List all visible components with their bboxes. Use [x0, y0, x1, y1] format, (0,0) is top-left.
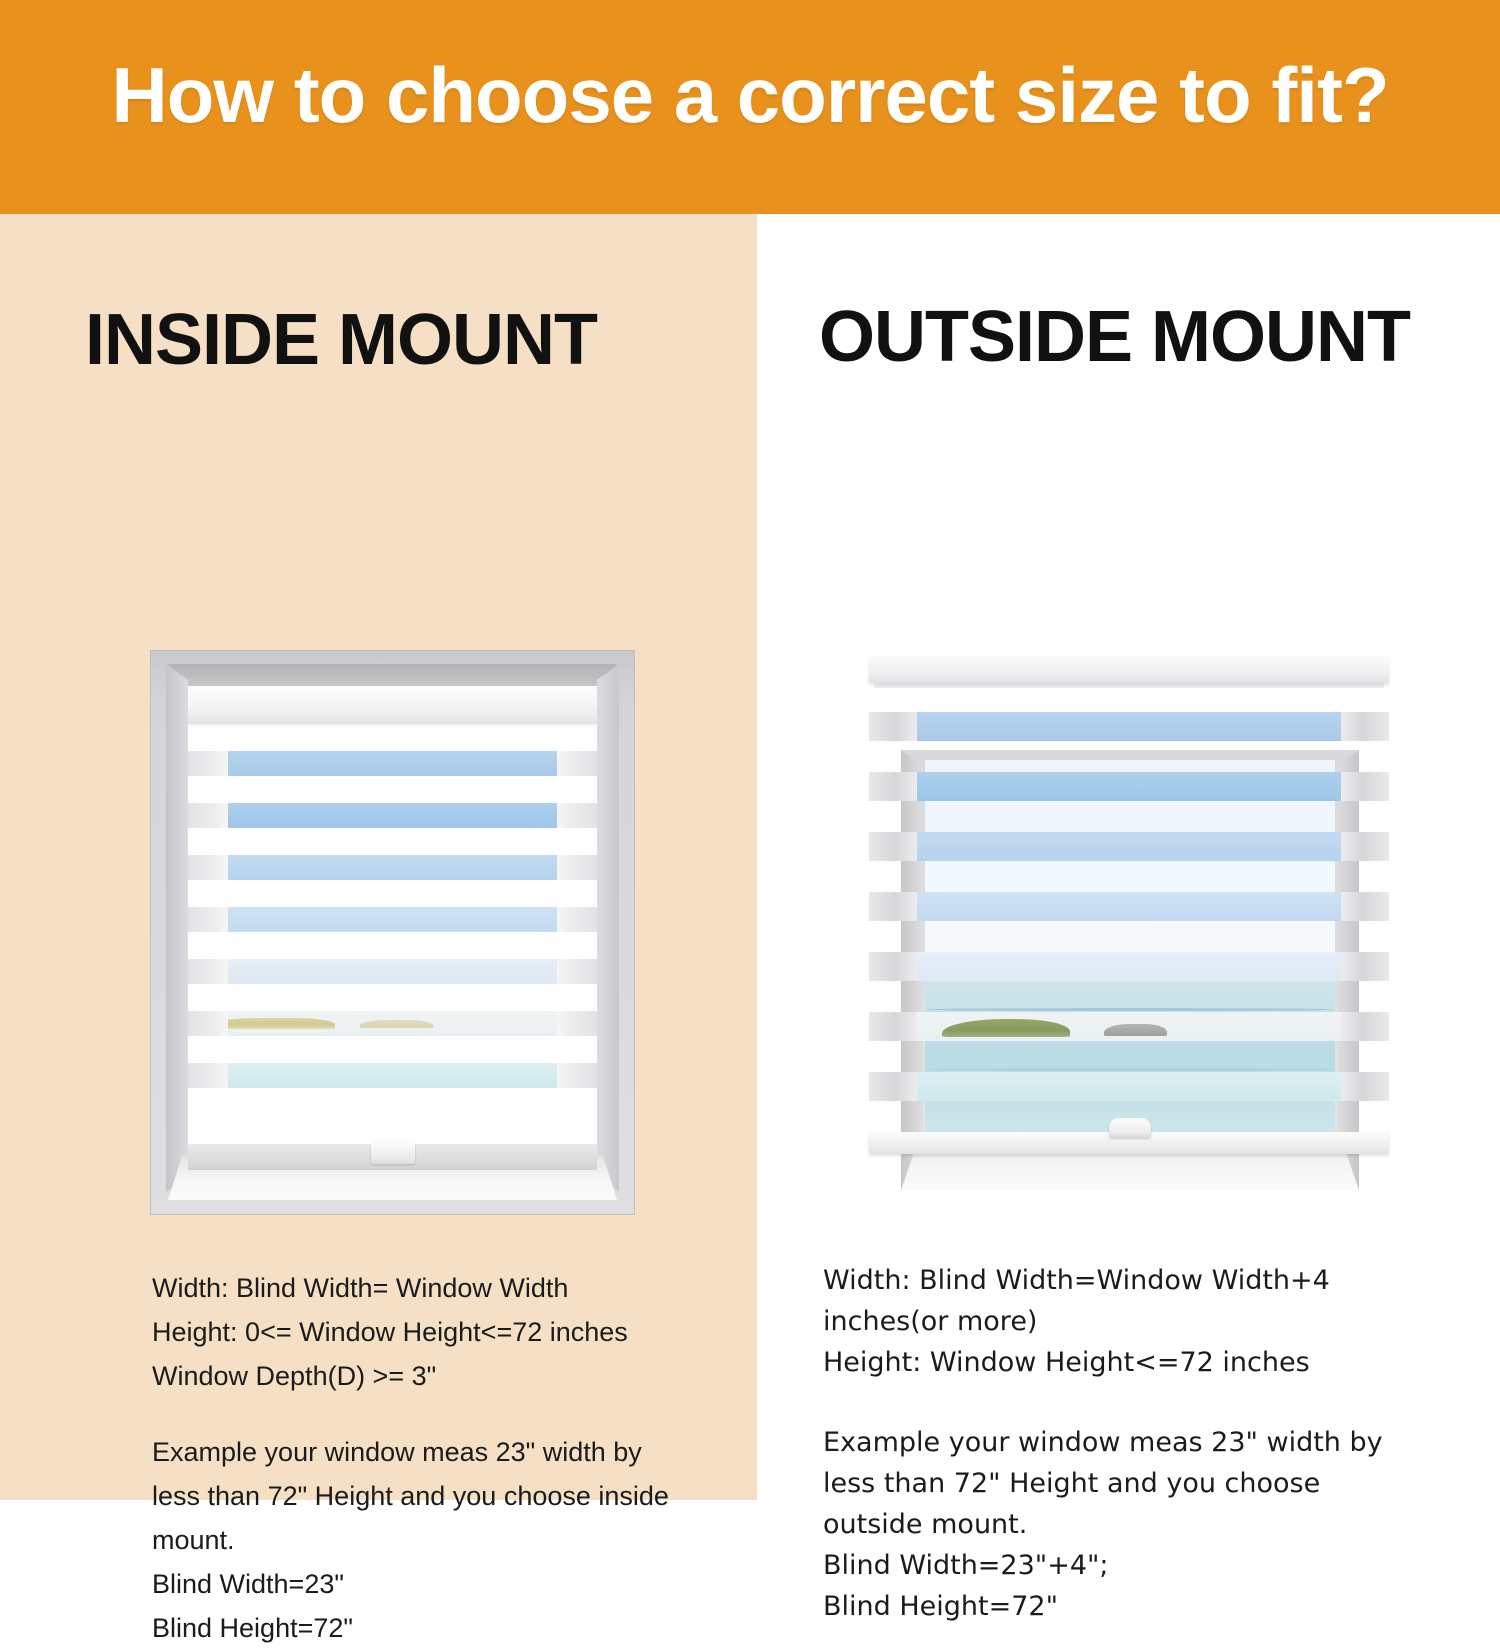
blind-sheer-stripe — [188, 751, 597, 776]
blind-headrail — [869, 656, 1389, 683]
header-banner: How to choose a correct size to fit? — [0, 0, 1500, 214]
blind-opaque-stripe — [188, 984, 597, 1011]
slat-endcap-left — [869, 952, 917, 981]
outside-example-line: Example your window meas 23" width by — [823, 1422, 1443, 1463]
outside-example-line: Blind Height=72" — [823, 1586, 1443, 1627]
blind-headrail — [188, 686, 597, 724]
blind-opaque-stripe — [188, 1088, 597, 1144]
blind-slat — [869, 772, 1389, 801]
zebra-blind — [860, 650, 1400, 1170]
outside-example-line: outside mount. — [823, 1504, 1443, 1545]
stripe-edge-shadow-left — [188, 1011, 228, 1036]
blind-sheer-stripe — [188, 803, 597, 828]
slat-endcap-left — [869, 772, 917, 801]
slat-view — [917, 832, 1341, 861]
stripe-edge-shadow-right — [557, 907, 597, 932]
slat-endcap-left — [869, 892, 917, 921]
outside-example-line: less than 72" Height and you choose — [823, 1463, 1443, 1504]
slat-view — [917, 712, 1341, 741]
inside-example-line: Example your window meas 23" width by — [152, 1430, 722, 1474]
inside-spec-line: Width: Blind Width= Window Width — [152, 1266, 712, 1310]
inside-example-block: Example your window meas 23" width by le… — [152, 1430, 722, 1650]
window-reveal-left — [166, 664, 188, 1192]
blind-sheer-stripe — [188, 855, 597, 880]
infographic-page: How to choose a correct size to fit? INS… — [0, 0, 1500, 1500]
outside-mount-panel: OUTSIDE MOUNT — [757, 214, 1500, 1500]
slat-endcap-right — [1341, 892, 1389, 921]
slat-endcap-right — [1341, 712, 1389, 741]
blind-handle[interactable] — [1109, 1118, 1151, 1138]
stripe-edge-shadow-left — [188, 907, 228, 932]
inside-spec-block: Width: Blind Width= Window Width Height:… — [152, 1266, 712, 1398]
outside-spec-line: inches(or more) — [823, 1301, 1443, 1342]
blind-sheer-stripe — [188, 959, 597, 984]
islet-shape — [360, 1020, 434, 1028]
outside-spec-line: Width: Blind Width=Window Width+4 — [823, 1260, 1443, 1301]
outside-example-block: Example your window meas 23" width by le… — [823, 1422, 1443, 1627]
blind-opaque-stripe — [188, 776, 597, 803]
outside-spec-block: Width: Blind Width=Window Width+4 inches… — [823, 1260, 1443, 1383]
outside-example-line: Blind Width=23"+4"; — [823, 1545, 1443, 1586]
window-reveal-right — [597, 664, 619, 1192]
outside-mount-illustration — [860, 650, 1400, 1215]
blind-handle[interactable] — [371, 1140, 415, 1164]
inside-example-line: mount. — [152, 1518, 722, 1562]
slat-endcap-right — [1341, 1012, 1389, 1041]
slat-endcap-right — [1341, 772, 1389, 801]
inside-example-line: less than 72" Height and you choose insi… — [152, 1474, 722, 1518]
inside-mount-heading: INSIDE MOUNT — [85, 299, 597, 381]
slat-endcap-left — [869, 712, 917, 741]
stripe-edge-shadow-left — [188, 803, 228, 828]
stripe-edge-shadow-right — [557, 959, 597, 984]
stripe-edge-shadow-right — [557, 1011, 597, 1036]
blind-opaque-stripe — [188, 828, 597, 855]
inside-mount-illustration — [150, 650, 635, 1215]
slat-view — [917, 952, 1341, 981]
stripe-edge-shadow-right — [557, 855, 597, 880]
slat-view — [917, 1072, 1341, 1101]
blind-slat — [869, 832, 1389, 861]
blind-opaque-stripe — [188, 932, 597, 959]
stripe-edge-shadow-right — [557, 803, 597, 828]
outside-mount-heading: OUTSIDE MOUNT — [819, 296, 1410, 378]
slat-endcap-right — [1341, 832, 1389, 861]
blind-slat — [869, 892, 1389, 921]
blind-opaque-stripe — [188, 1036, 597, 1063]
inside-mount-panel: INSIDE MOUNT — [0, 214, 757, 1500]
stripe-edge-shadow-left — [188, 1063, 228, 1088]
slat-endcap-left — [869, 1072, 917, 1101]
slat-endcap-right — [1341, 952, 1389, 981]
blind-sheer-stripe — [188, 907, 597, 932]
window-reveal-top — [168, 664, 617, 686]
blind-slat — [869, 712, 1389, 741]
stripe-edge-shadow-left — [188, 751, 228, 776]
blind-slat-island — [869, 1012, 1389, 1041]
inside-spec-line: Height: 0<= Window Height<=72 inches — [152, 1310, 712, 1354]
outside-spec-line: Height: Window Height<=72 inches — [823, 1342, 1443, 1383]
blind-sheer-stripe-island — [188, 1011, 597, 1036]
slat-endcap-left — [869, 1012, 917, 1041]
slat-view — [917, 1012, 1341, 1041]
stripe-edge-shadow-left — [188, 855, 228, 880]
stripe-edge-shadow-left — [188, 959, 228, 984]
inside-spec-line: Window Depth(D) >= 3" — [152, 1354, 712, 1398]
blind-slat — [869, 952, 1389, 981]
blind-slat-sea — [869, 1072, 1389, 1101]
stripe-edge-shadow-right — [557, 1063, 597, 1088]
page-title: How to choose a correct size to fit? — [0, 50, 1500, 141]
blind-opaque-stripe — [188, 880, 597, 907]
slat-endcap-left — [869, 832, 917, 861]
slat-endcap-right — [1341, 1072, 1389, 1101]
inside-example-line: Blind Width=23" — [152, 1562, 722, 1606]
island-shape — [942, 1019, 1069, 1037]
zebra-blind — [188, 686, 597, 1170]
slat-view — [917, 892, 1341, 921]
inside-example-line: Blind Height=72" — [152, 1606, 722, 1650]
slat-view — [917, 772, 1341, 801]
stripe-edge-shadow-right — [557, 751, 597, 776]
islet-shape — [1104, 1024, 1168, 1036]
blind-opaque-stripe — [188, 724, 597, 751]
blind-sheer-stripe-sea — [188, 1063, 597, 1088]
